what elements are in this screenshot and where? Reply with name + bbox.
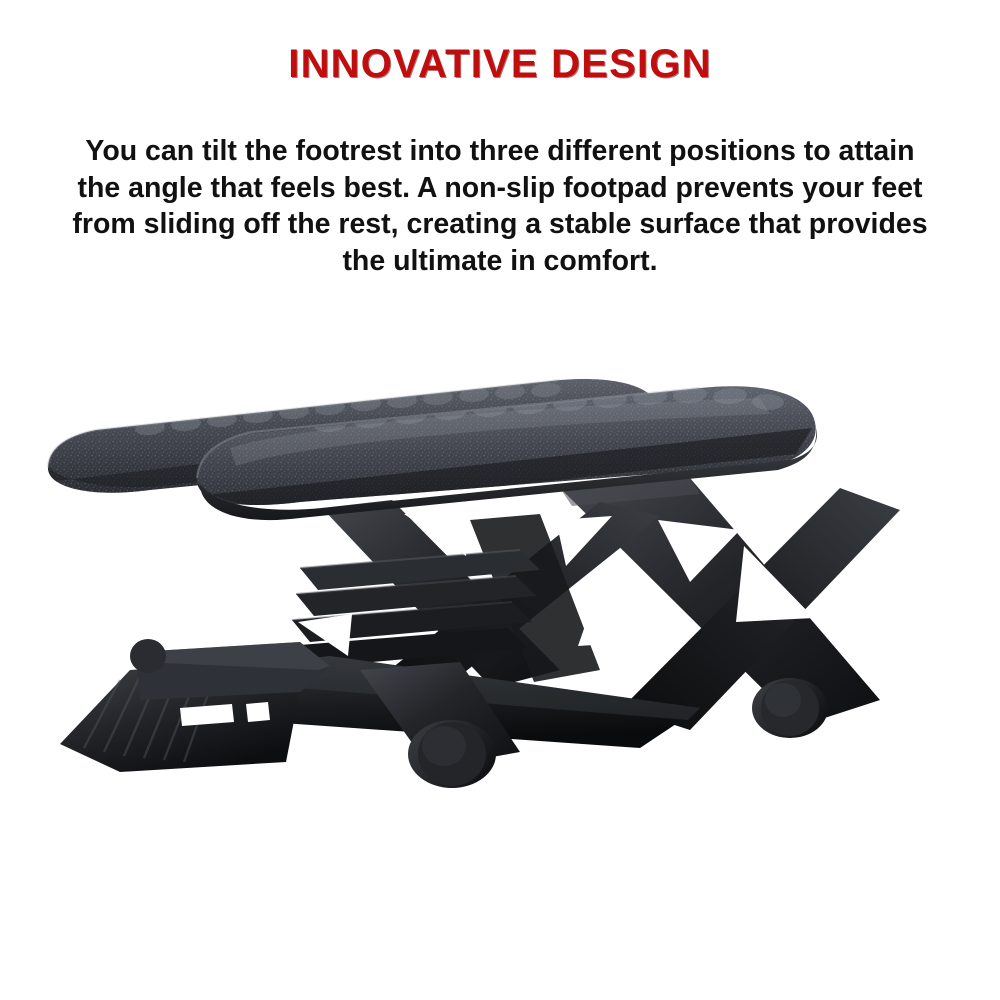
product-image	[0, 370, 1000, 840]
left-pivot-knob	[130, 639, 166, 673]
body-description: You can tilt the footrest into three dif…	[62, 133, 938, 279]
rear-right-foot[interactable]	[752, 678, 828, 738]
page-title: INNOVATIVE DESIGN	[0, 42, 1000, 87]
scissor-frame	[60, 478, 900, 788]
front-left-grip-wedge	[60, 642, 330, 772]
tilt-adjustment-ribs	[288, 550, 540, 668]
footrest-illustration	[0, 370, 1000, 840]
product-feature-page: INNOVATIVE DESIGN You can tilt the footr…	[0, 0, 1000, 1000]
front-right-foot[interactable]	[408, 720, 496, 788]
